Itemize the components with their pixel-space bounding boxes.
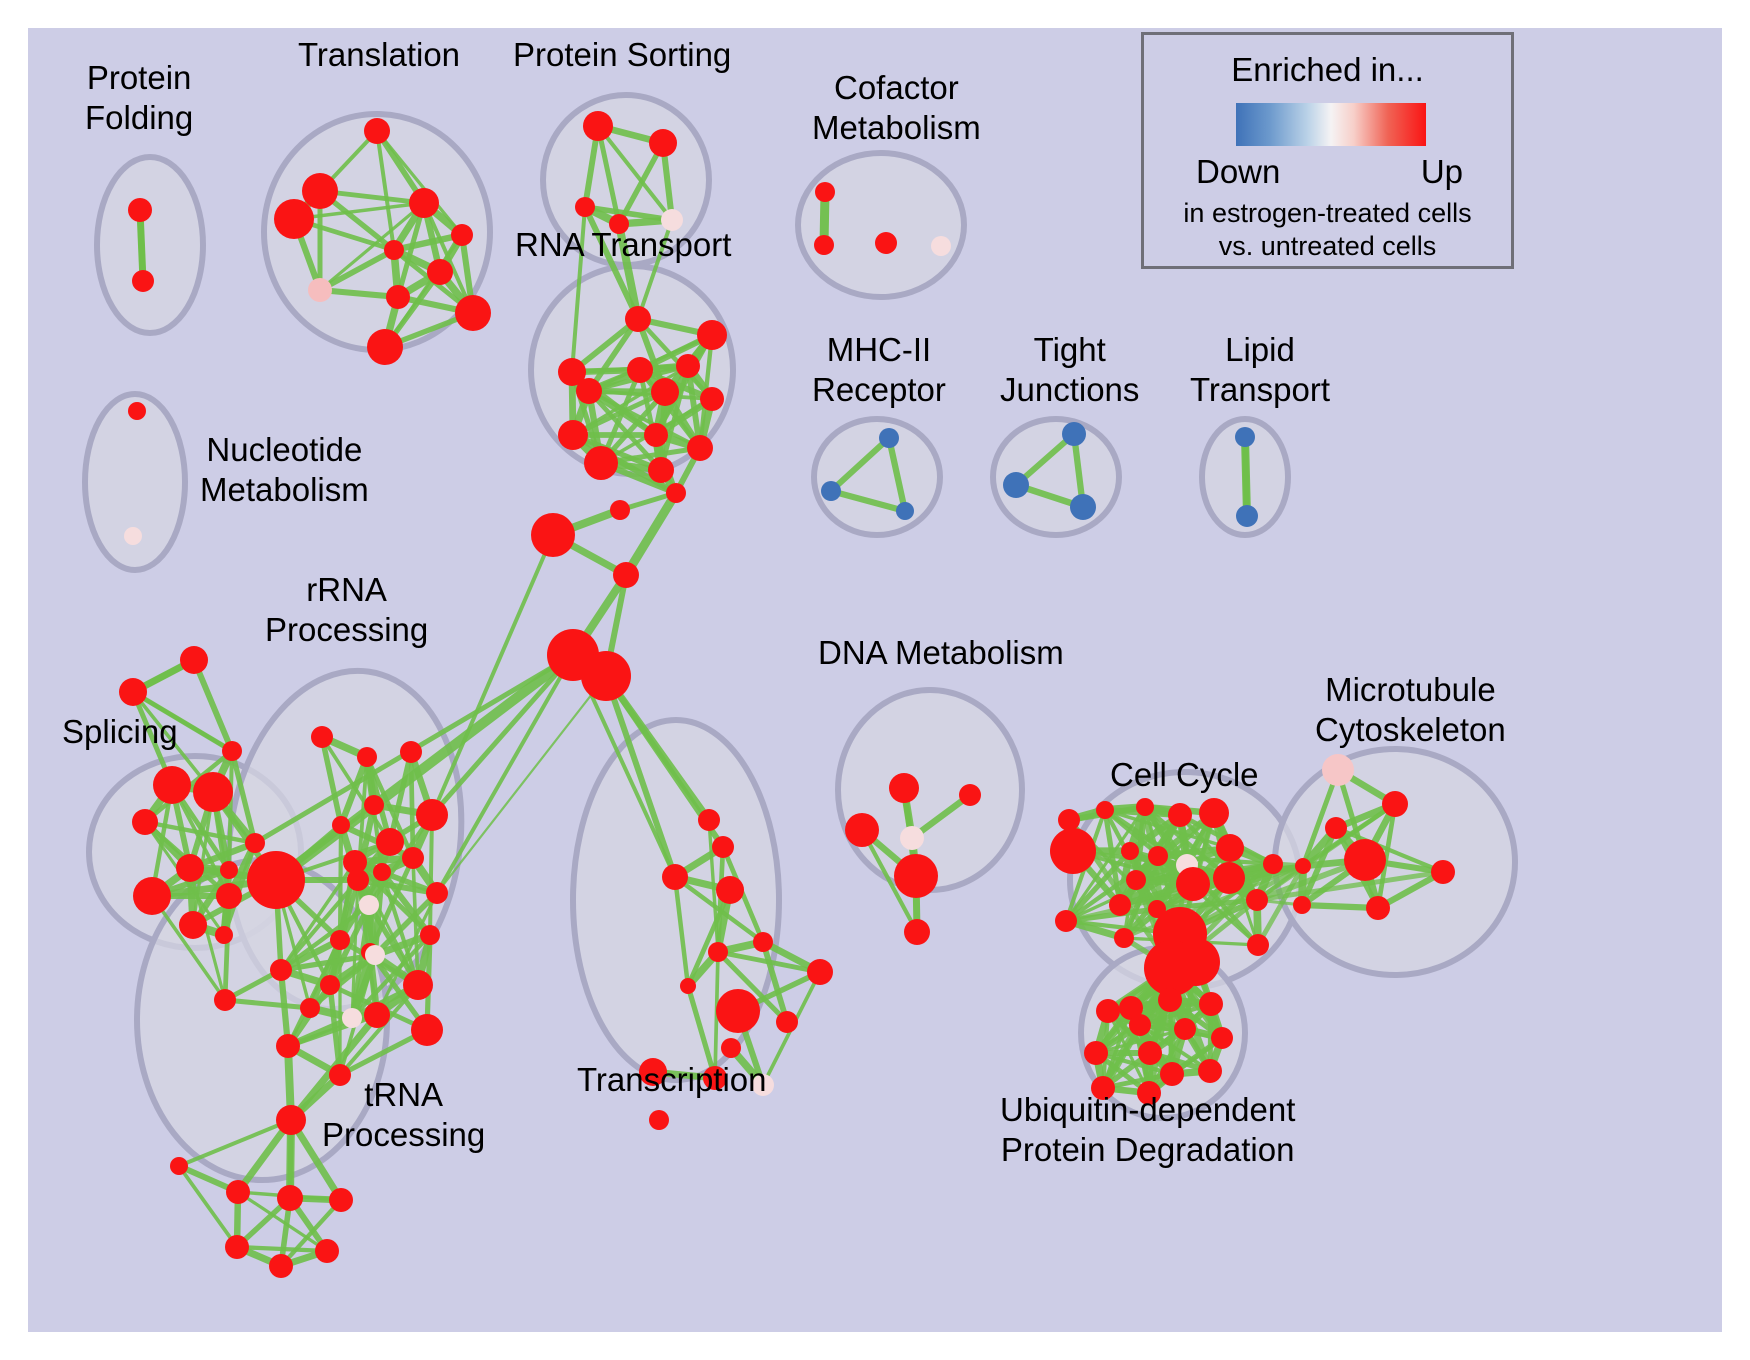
network-node[interactable] [247, 851, 305, 909]
network-node[interactable] [613, 562, 639, 588]
network-node[interactable] [300, 998, 320, 1018]
network-node[interactable] [1148, 846, 1168, 866]
network-node[interactable] [1236, 505, 1258, 527]
network-node[interactable] [400, 741, 422, 763]
network-node[interactable] [402, 847, 424, 869]
network-node[interactable] [904, 919, 930, 945]
network-node[interactable] [386, 285, 410, 309]
network-node[interactable] [687, 435, 713, 461]
network-node[interactable] [721, 1038, 741, 1058]
network-node[interactable] [708, 942, 728, 962]
network-node[interactable] [128, 402, 146, 420]
network-node[interactable] [1109, 894, 1131, 916]
network-node[interactable] [276, 1105, 306, 1135]
network-node[interactable] [666, 483, 686, 503]
network-node[interactable] [1176, 867, 1210, 901]
network-node[interactable] [900, 826, 924, 850]
network-node[interactable] [661, 209, 683, 231]
network-node[interactable] [315, 1239, 339, 1263]
network-node[interactable] [357, 747, 377, 767]
network-node[interactable] [776, 1011, 798, 1033]
network-node[interactable] [1199, 992, 1223, 1016]
network-node[interactable] [124, 527, 142, 545]
network-node[interactable] [1158, 988, 1182, 1012]
network-node[interactable] [752, 1074, 774, 1096]
network-edge [1245, 437, 1247, 516]
network-node[interactable] [821, 481, 841, 501]
network-node[interactable] [889, 773, 919, 803]
network-node[interactable] [627, 357, 653, 383]
network-node[interactable] [347, 869, 369, 891]
network-node[interactable] [815, 182, 835, 202]
network-edge [430, 815, 432, 935]
network-node[interactable] [364, 1002, 390, 1028]
network-node[interactable] [1322, 754, 1354, 786]
network-node[interactable] [1168, 803, 1192, 827]
network-node[interactable] [132, 809, 158, 835]
network-node[interactable] [153, 766, 191, 804]
network-node[interactable] [697, 320, 727, 350]
network-node[interactable] [277, 1185, 303, 1211]
network-node[interactable] [365, 945, 385, 965]
network-node[interactable] [376, 828, 404, 856]
network-node[interactable] [426, 882, 448, 904]
network-node[interactable] [648, 457, 674, 483]
network-node[interactable] [320, 975, 340, 995]
network-node[interactable] [662, 864, 688, 890]
network-node[interactable] [1247, 934, 1269, 956]
network-node[interactable] [359, 895, 379, 915]
network-node[interactable] [220, 861, 238, 879]
network-node[interactable] [959, 784, 981, 806]
network-node[interactable] [311, 726, 333, 748]
network-node[interactable] [1366, 896, 1390, 920]
network-node[interactable] [128, 198, 152, 222]
network-node[interactable] [753, 932, 773, 952]
network-node[interactable] [625, 306, 651, 332]
network-node[interactable] [1136, 798, 1154, 816]
network-node[interactable] [329, 1188, 353, 1212]
network-node[interactable] [584, 446, 618, 480]
network-node[interactable] [1129, 1014, 1151, 1036]
network-node[interactable] [1121, 842, 1139, 860]
network-node[interactable] [558, 420, 588, 450]
network-node[interactable] [1213, 862, 1245, 894]
network-node[interactable] [225, 1235, 249, 1259]
network-node[interactable] [302, 173, 338, 209]
network-node[interactable] [269, 1254, 293, 1278]
network-node[interactable] [879, 428, 899, 448]
network-figure: Protein FoldingTranslationProtein Sortin… [0, 0, 1750, 1360]
network-node[interactable] [931, 236, 951, 256]
network-node[interactable] [308, 278, 332, 302]
network-node[interactable] [894, 854, 938, 898]
legend-caption: in estrogen-treated cells vs. untreated … [1144, 197, 1511, 263]
network-node[interactable] [1235, 427, 1255, 447]
network-node[interactable] [427, 259, 453, 285]
network-node[interactable] [1138, 1041, 1162, 1065]
network-node[interactable] [270, 959, 292, 981]
network-node[interactable] [364, 795, 384, 815]
cluster-hull-protein-folding[interactable] [97, 157, 203, 333]
network-node[interactable] [698, 809, 720, 831]
network-node[interactable] [680, 978, 696, 994]
network-node[interactable] [364, 118, 390, 144]
network-node[interactable] [1062, 422, 1086, 446]
legend-title: Enriched in... [1144, 51, 1511, 89]
network-node[interactable] [875, 232, 897, 254]
network-node[interactable] [329, 1064, 351, 1086]
network-node[interactable] [1172, 938, 1220, 986]
network-node[interactable] [1216, 834, 1244, 862]
network-node[interactable] [1382, 791, 1408, 817]
network-node[interactable] [1293, 896, 1311, 914]
network-node[interactable] [1199, 798, 1229, 828]
network-node[interactable] [332, 816, 350, 834]
network-node[interactable] [531, 513, 575, 557]
network-node[interactable] [193, 772, 233, 812]
network-node[interactable] [132, 270, 154, 292]
network-node[interactable] [276, 1034, 300, 1058]
network-node[interactable] [1174, 1018, 1196, 1040]
network-node[interactable] [367, 329, 403, 365]
network-node[interactable] [1160, 1062, 1184, 1086]
network-node[interactable] [133, 877, 171, 915]
network-node[interactable] [245, 833, 265, 853]
network-node[interactable] [416, 799, 448, 831]
network-node[interactable] [644, 423, 668, 447]
network-node[interactable] [411, 1014, 443, 1046]
network-node[interactable] [807, 959, 833, 985]
legend-panel: Enriched in... Down Up in estrogen-treat… [1141, 32, 1514, 269]
network-node[interactable] [1431, 860, 1455, 884]
legend-high-label: Up [1421, 153, 1463, 191]
network-node[interactable] [676, 354, 700, 378]
network-node[interactable] [610, 500, 630, 520]
network-node[interactable] [1198, 1059, 1222, 1083]
network-node[interactable] [214, 989, 236, 1011]
network-node[interactable] [1058, 809, 1080, 831]
network-node[interactable] [451, 224, 473, 246]
network-node[interactable] [180, 646, 208, 674]
network-node[interactable] [1070, 494, 1096, 520]
network-node[interactable] [1137, 1081, 1161, 1105]
cluster-hull-mhc-ii-receptor[interactable] [814, 419, 940, 535]
network-node[interactable] [1246, 889, 1268, 911]
network-node[interactable] [455, 295, 491, 331]
network-node[interactable] [1084, 1041, 1108, 1065]
network-node[interactable] [609, 214, 629, 234]
network-node[interactable] [649, 129, 677, 157]
network-node[interactable] [576, 378, 602, 404]
network-node[interactable] [420, 925, 440, 945]
network-node[interactable] [1263, 854, 1283, 874]
network-node[interactable] [1055, 910, 1077, 932]
network-node[interactable] [330, 930, 350, 950]
network-node[interactable] [384, 240, 404, 260]
network-node[interactable] [700, 387, 724, 411]
network-node[interactable] [1325, 817, 1347, 839]
network-node[interactable] [215, 926, 233, 944]
legend-gradient-bar [1236, 103, 1426, 146]
network-node[interactable] [1344, 839, 1386, 881]
network-node[interactable] [274, 199, 314, 239]
network-node[interactable] [639, 1058, 667, 1086]
network-node[interactable] [649, 1110, 669, 1130]
network-node[interactable] [1295, 858, 1311, 874]
network-node[interactable] [226, 1180, 250, 1204]
network-node[interactable] [583, 111, 613, 141]
network-node[interactable] [896, 502, 914, 520]
network-node[interactable] [373, 863, 391, 881]
network-node[interactable] [712, 836, 734, 858]
network-node[interactable] [581, 651, 631, 701]
network-node[interactable] [170, 1157, 188, 1175]
network-node[interactable] [716, 876, 744, 904]
network-node[interactable] [1091, 1076, 1115, 1100]
network-node[interactable] [575, 197, 595, 217]
network-node[interactable] [1050, 828, 1096, 874]
network-node[interactable] [703, 1066, 727, 1090]
network-node[interactable] [216, 883, 242, 909]
network-node[interactable] [222, 741, 242, 761]
network-node[interactable] [176, 854, 204, 882]
network-node[interactable] [651, 378, 679, 406]
network-node[interactable] [409, 188, 439, 218]
network-node[interactable] [1096, 999, 1120, 1023]
legend-low-label: Down [1196, 153, 1280, 191]
network-node[interactable] [1096, 801, 1114, 819]
network-node[interactable] [1126, 870, 1146, 890]
network-node[interactable] [1003, 472, 1029, 498]
network-node[interactable] [845, 813, 879, 847]
network-node[interactable] [814, 235, 834, 255]
network-node[interactable] [1114, 928, 1134, 948]
network-node[interactable] [119, 678, 147, 706]
network-node[interactable] [1211, 1027, 1233, 1049]
network-node[interactable] [179, 911, 207, 939]
network-node[interactable] [716, 989, 760, 1033]
network-node[interactable] [403, 970, 433, 1000]
network-node[interactable] [342, 1008, 362, 1028]
